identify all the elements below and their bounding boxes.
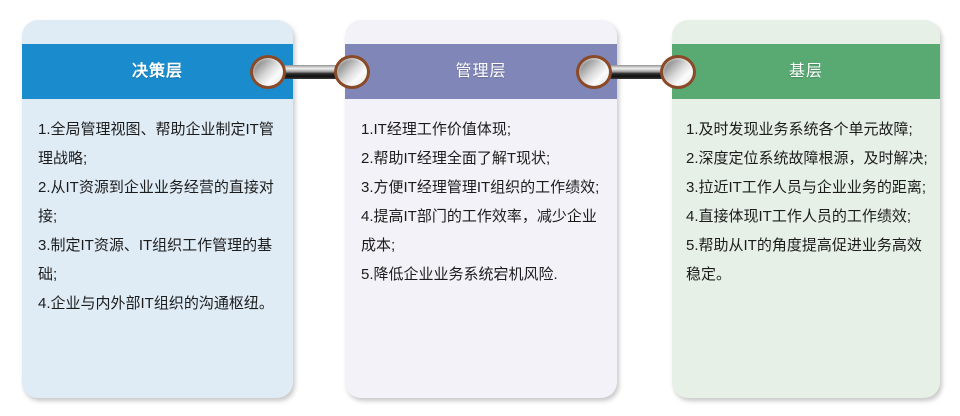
list-item: 4.企业与内外部IT组织的沟通枢纽。 (38, 289, 283, 318)
diagram-canvas: 决策层 1.全局管理视图、帮助企业制定IT管理战略; 2.从IT资源到企业业务经… (0, 0, 960, 416)
list-item: 4.直接体现IT工作人员的工作绩效; (686, 202, 930, 231)
panel-decision-title: 决策层 (132, 64, 183, 80)
list-item: 2.帮助IT经理全面了解T现状; (361, 144, 605, 173)
panel-management-header: 管理层 (345, 44, 617, 99)
list-item: 3.制定IT资源、IT组织工作管理的基础; (38, 231, 283, 289)
panel-decision-header: 决策层 (22, 44, 293, 99)
panel-management-body: 1.IT经理工作价值体现; 2.帮助IT经理全面了解T现状; 3.方便IT经理管… (345, 99, 617, 299)
panel-operations-header: 基层 (672, 44, 940, 99)
list-item: 1.全局管理视图、帮助企业制定IT管理战略; (38, 115, 283, 173)
panel-management-title: 管理层 (455, 64, 506, 80)
panel-decision-body: 1.全局管理视图、帮助企业制定IT管理战略; 2.从IT资源到企业业务经营的直接… (22, 99, 293, 328)
list-item: 5.降低企业业务系统宕机风险. (361, 260, 605, 289)
list-item: 3.方便IT经理管理IT组织的工作绩效; (361, 173, 605, 202)
list-item: 2.从IT资源到企业业务经营的直接对接; (38, 173, 283, 231)
panel-operations-title: 基层 (789, 64, 823, 80)
list-item: 1.IT经理工作价值体现; (361, 115, 605, 144)
panel-decision[interactable]: 决策层 1.全局管理视图、帮助企业制定IT管理战略; 2.从IT资源到企业业务经… (22, 20, 293, 398)
list-item: 2.深度定位系统故障根源，及时解决; (686, 144, 930, 173)
panel-operations[interactable]: 基层 1.及时发现业务系统各个单元故障; 2.深度定位系统故障根源，及时解决; … (672, 20, 940, 398)
list-item: 3.拉近IT工作人员与企业业务的距离; (686, 173, 930, 202)
panel-operations-body: 1.及时发现业务系统各个单元故障; 2.深度定位系统故障根源，及时解决; 3.拉… (672, 99, 940, 299)
list-item: 1.及时发现业务系统各个单元故障; (686, 115, 930, 144)
list-item: 4.提高IT部门的工作效率，减少企业成本; (361, 202, 605, 260)
list-item: 5.帮助从IT的角度提高促进业务高效稳定。 (686, 231, 930, 289)
panel-management[interactable]: 管理层 1.IT经理工作价值体现; 2.帮助IT经理全面了解T现状; 3.方便I… (345, 20, 617, 398)
